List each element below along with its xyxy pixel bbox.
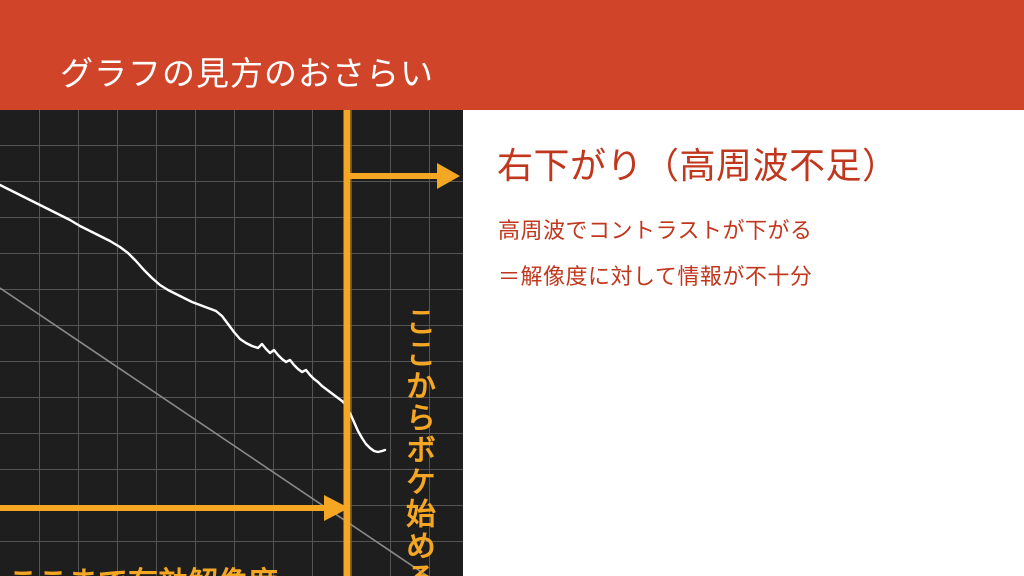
- section-heading: 右下がり（高周波不足）: [497, 144, 899, 188]
- explanation-panel: 右下がり（高周波不足） 高周波でコントラストが下がる ＝解像度に対して情報が不十…: [463, 110, 1024, 576]
- body-line: 高周波でコントラストが下がる: [498, 208, 998, 254]
- mtf-chart: [0, 110, 463, 576]
- slide-root: グラフの見方のおさらい: [0, 0, 1024, 576]
- page-title: グラフの見方のおさらい: [60, 54, 434, 94]
- body-line: ＝解像度に対して情報が不十分: [498, 254, 998, 300]
- body-text-block: 高周波でコントラストが下がる ＝解像度に対して情報が不十分: [498, 208, 998, 300]
- slide-header: グラフの見方のおさらい: [0, 0, 1024, 110]
- chart-panel: ここまで有効解像度 ここからボケ始める: [0, 110, 463, 576]
- annotation-effective-resolution-label: ここまで有効解像度: [8, 565, 278, 576]
- annotation-blur-start-label: ここからボケ始める: [398, 306, 434, 576]
